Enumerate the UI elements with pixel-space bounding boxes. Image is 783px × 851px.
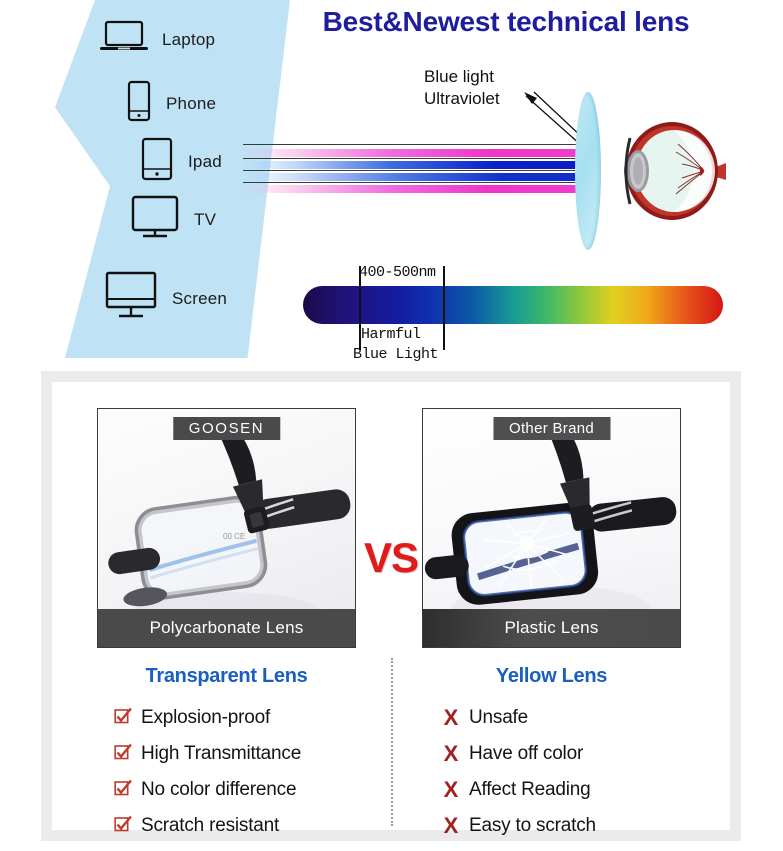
device-label-screen: Screen [172, 289, 227, 309]
device-label-laptop: Laptop [162, 30, 215, 50]
spectrum-diagram: 400-500nm Harmful Blue Light [303, 264, 723, 368]
ray-label-group: Blue light Ultraviolet [424, 66, 500, 110]
device-item-screen: Screen [104, 271, 227, 326]
monitor-icon [104, 271, 158, 326]
spectrum-range-label: 400-500nm [359, 264, 436, 281]
device-item-tv: TV [130, 195, 216, 244]
column-divider [391, 658, 393, 826]
device-item-phone: Phone [126, 80, 216, 127]
device-label-tv: TV [194, 210, 216, 230]
column-heading-transparent-lens: Transparent Lens [97, 665, 356, 688]
vs-badge: VS [364, 534, 418, 582]
ray-label-ultraviolet: Ultraviolet [424, 88, 500, 110]
list-item: High Transmittance [114, 736, 301, 772]
comparison-panel: 00 CE GOOSEN Polycarbonate Lens [41, 371, 741, 841]
infographic-page: Laptop Phone Ipad [0, 0, 783, 851]
device-label-ipad: Ipad [188, 152, 222, 172]
svg-text:00 CE: 00 CE [223, 532, 245, 541]
device-item-ipad: Ipad [140, 137, 222, 186]
top-diagram-section: Laptop Phone Ipad [0, 0, 783, 368]
ray-band-blue-2 [243, 173, 593, 181]
feature-text: Scratch resistant [141, 815, 279, 837]
feature-list-positive: Explosion-proof High Transmittance [114, 700, 301, 844]
check-icon [114, 743, 132, 766]
tablet-icon [140, 137, 174, 186]
feature-text: Have off color [469, 743, 583, 765]
tv-icon [130, 195, 180, 244]
list-item: No color difference [114, 772, 301, 808]
spectrum-gradient-bar [303, 286, 723, 324]
photo-caption-polycarbonate: Polycarbonate Lens [98, 609, 355, 647]
spectrum-caption-blue-light: Blue Light [353, 346, 438, 363]
feature-text: Affect Reading [469, 779, 591, 801]
ray-label-blue-light: Blue light [424, 66, 500, 88]
page-title: Best&Newest technical lens [271, 6, 741, 38]
ray-hairline-4 [243, 182, 593, 183]
x-icon: X [442, 743, 460, 765]
brand-tag-other-brand: Other Brand [493, 417, 610, 440]
check-icon [114, 779, 132, 802]
list-item: X Unsafe [442, 700, 596, 736]
eye-anatomy-icon [614, 116, 736, 226]
list-item: X Affect Reading [442, 772, 596, 808]
list-item: Explosion-proof [114, 700, 301, 736]
phone-icon [126, 80, 152, 127]
feature-text: Unsafe [469, 707, 528, 729]
feature-text: No color difference [141, 779, 296, 801]
eyeglass-lens-shape [575, 92, 601, 250]
laptop-icon [100, 20, 148, 59]
check-icon [114, 707, 132, 730]
list-item: X Easy to scratch [442, 808, 596, 844]
device-item-laptop: Laptop [100, 20, 215, 59]
spectrum-caption-harmful: Harmful [361, 326, 421, 343]
x-icon: X [442, 707, 460, 729]
column-heading-yellow-lens: Yellow Lens [422, 665, 681, 688]
x-icon: X [442, 779, 460, 801]
comparison-panel-inner: 00 CE GOOSEN Polycarbonate Lens [52, 382, 730, 830]
list-item: X Have off color [442, 736, 596, 772]
brand-tag-goosen: GOOSEN [173, 417, 280, 440]
product-photo-goosen[interactable]: 00 CE GOOSEN Polycarbonate Lens [97, 408, 356, 648]
product-photo-other-brand[interactable]: Other Brand Plastic Lens [422, 408, 681, 648]
feature-list-negative: X Unsafe X Have off color X Affect Readi… [442, 700, 596, 844]
photo-caption-plastic: Plastic Lens [423, 609, 680, 647]
feature-text: Easy to scratch [469, 815, 596, 837]
x-icon: X [442, 815, 460, 837]
device-label-phone: Phone [166, 94, 216, 114]
check-icon [114, 815, 132, 838]
list-item: Scratch resistant [114, 808, 301, 844]
feature-text: Explosion-proof [141, 707, 270, 729]
feature-text: High Transmittance [141, 743, 301, 765]
ray-band-pink-2 [243, 185, 593, 193]
spectrum-tick-500 [443, 266, 445, 350]
